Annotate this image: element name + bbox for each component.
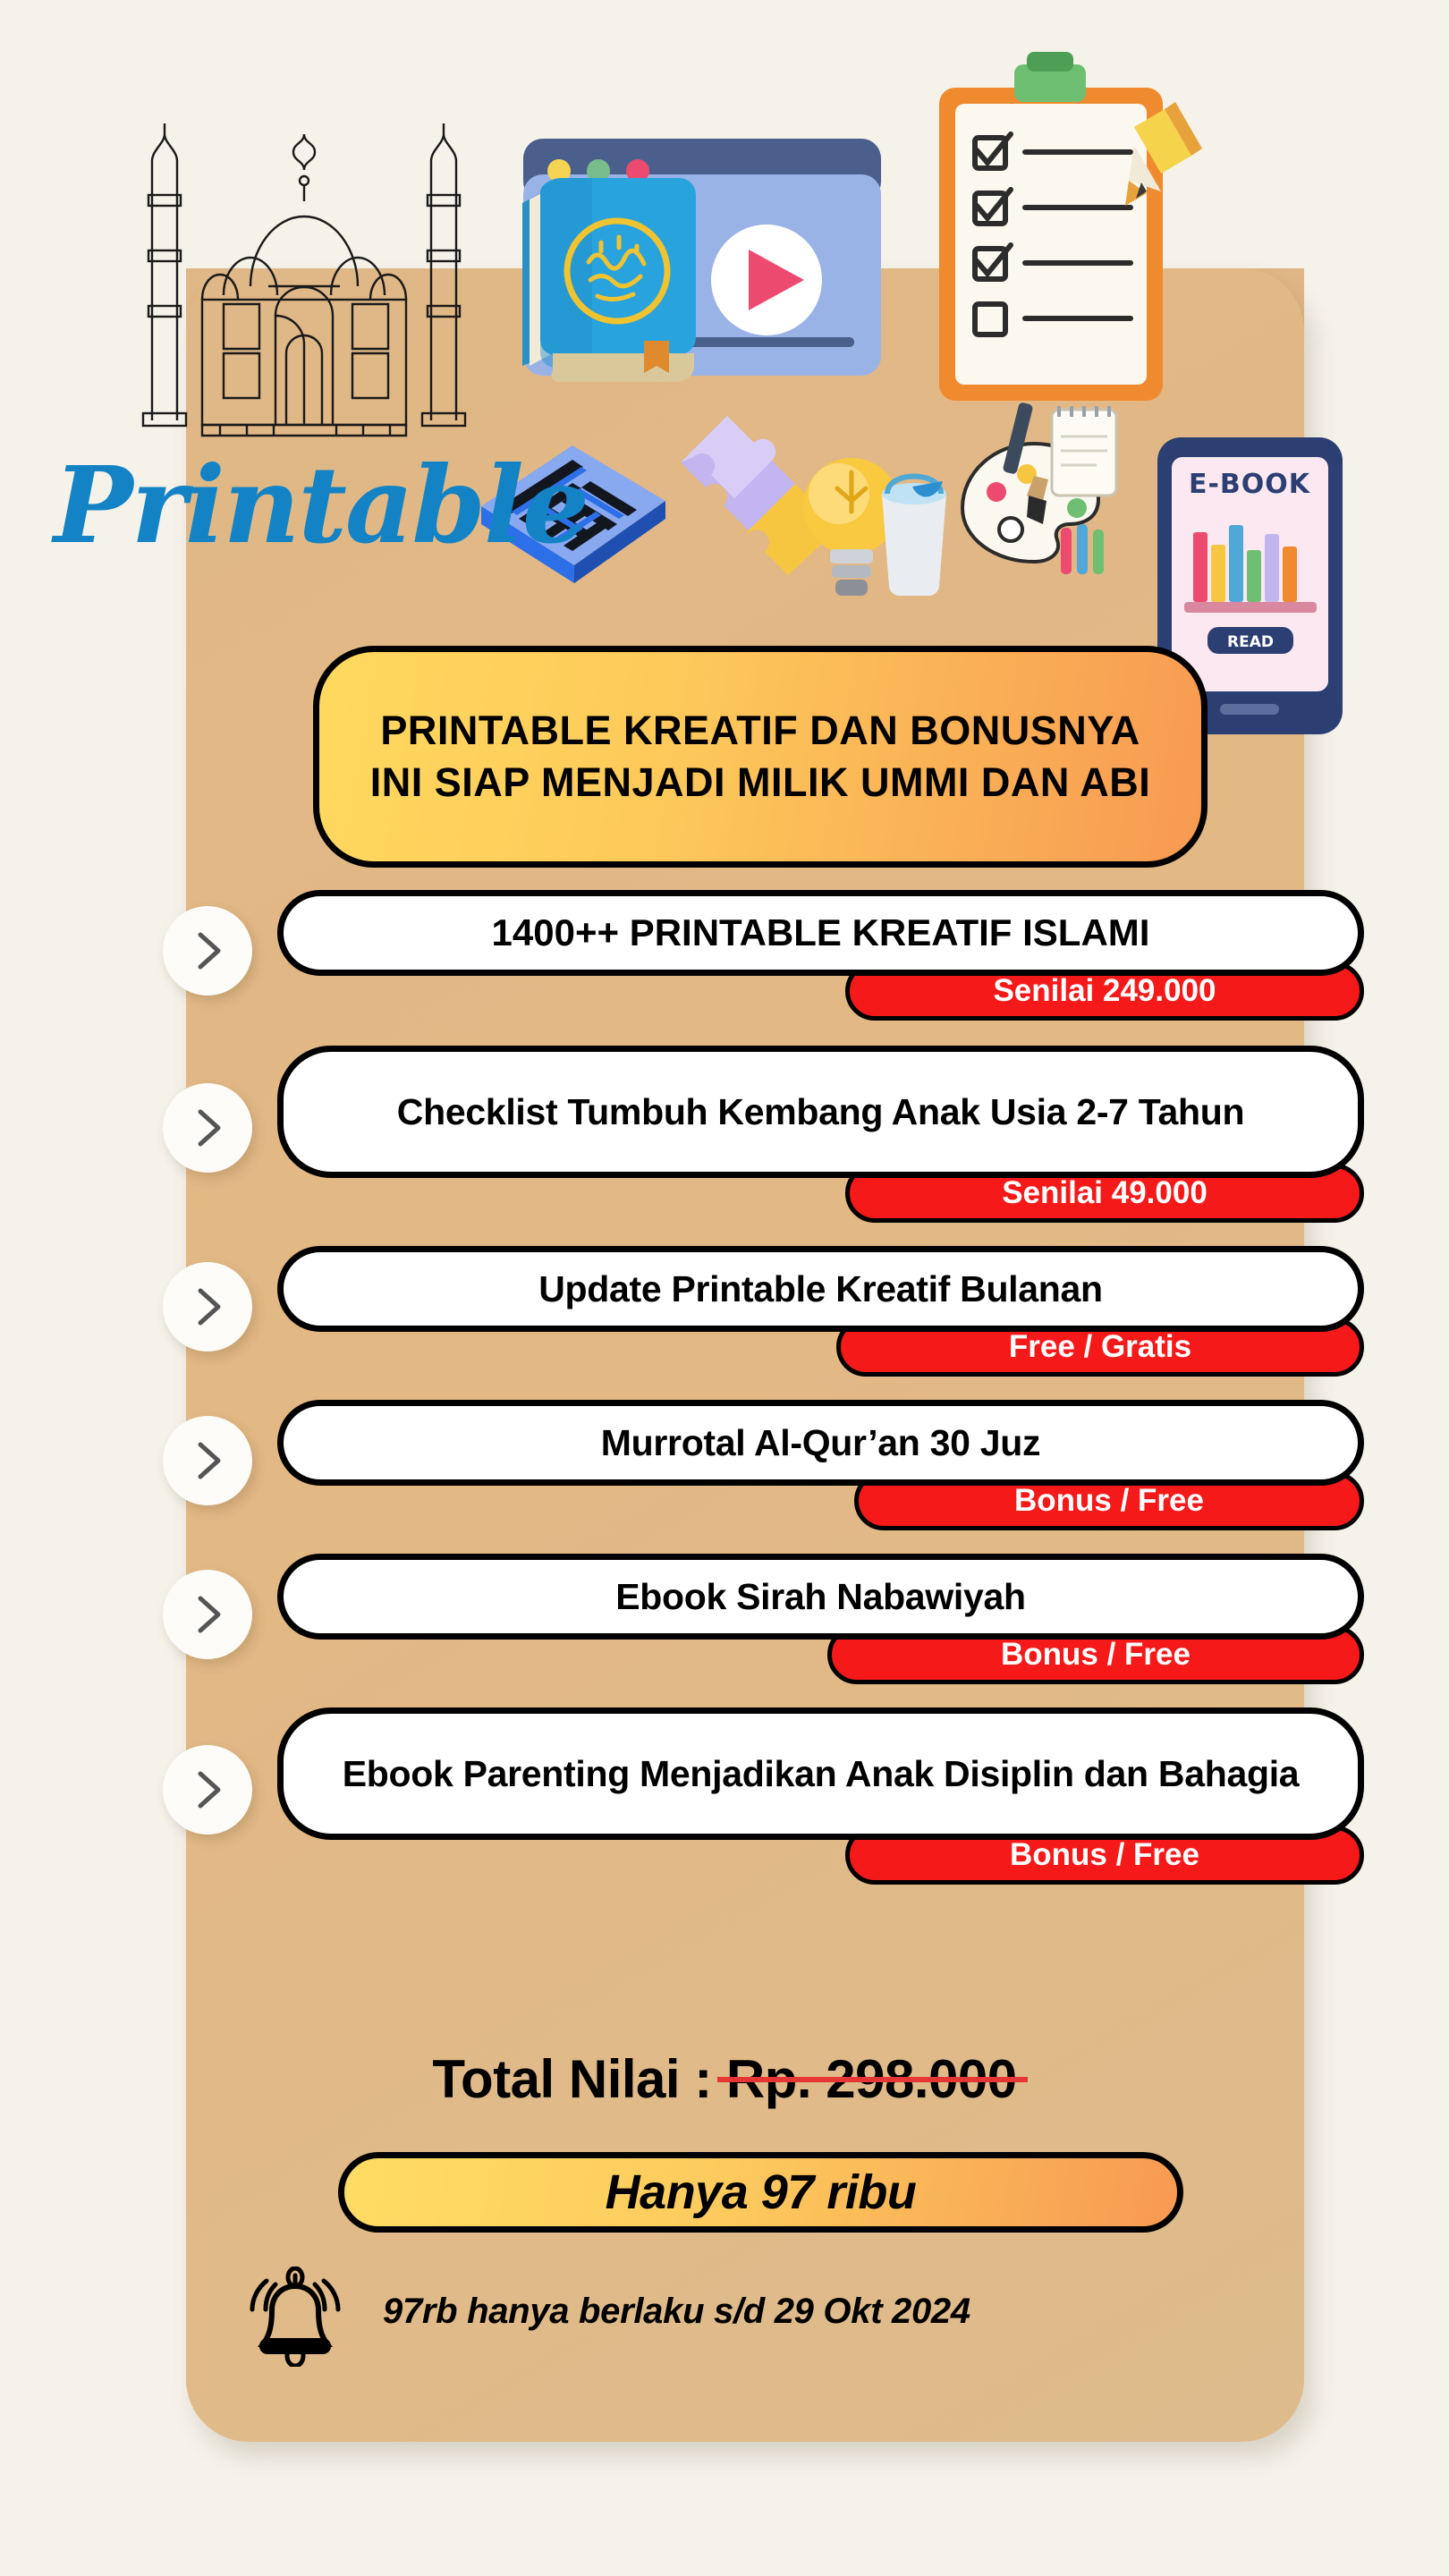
feature-pill: Ebook Sirah Nabawiyah (277, 1554, 1364, 1640)
checklist-clipboard (921, 45, 1207, 420)
feature-title: Murrotal Al-Qur’an 30 Juz (601, 1420, 1040, 1465)
mosque-line-art (116, 116, 492, 474)
paint-palette (877, 394, 1118, 608)
headline-banner: PRINTABLE KREATIF DAN BONUSNYA INI SIAP … (313, 646, 1207, 868)
list-item[interactable]: Checklist Tumbuh Kembang Anak Usia 2-7 T… (0, 1046, 1449, 1226)
spiral-notepad (1052, 406, 1116, 496)
chevron-right-icon[interactable] (163, 906, 252, 996)
feature-pill: 1400++ PRINTABLE KREATIF ISLAMI (277, 890, 1364, 976)
list-item[interactable]: 1400++ PRINTABLE KREATIF ISLAMI Senilai … (0, 890, 1449, 1024)
feature-title: Ebook Parenting Menjadikan Anak Disiplin… (343, 1751, 1300, 1796)
deadline-block: 97rb hanya berlaku s/d 29 Okt 2024 (241, 2263, 1225, 2370)
feature-title: Ebook Sirah Nabawiyah (615, 1574, 1026, 1619)
list-item[interactable]: Update Printable Kreatif Bulanan Free / … (0, 1246, 1449, 1380)
svg-text:E-BOOK: E-BOOK (1189, 469, 1311, 500)
quran-book (519, 165, 716, 389)
feature-pill: Ebook Parenting Menjadikan Anak Disiplin… (277, 1707, 1364, 1840)
chevron-right-icon[interactable] (163, 1083, 252, 1173)
list-item[interactable]: Ebook Sirah Nabawiyah Bonus / Free (0, 1554, 1449, 1688)
chevron-right-icon[interactable] (163, 1416, 252, 1505)
paint-bucket (882, 477, 946, 597)
list-item[interactable]: Murrotal Al-Qur’an 30 Juz Bonus / Free (0, 1400, 1449, 1534)
feature-title: 1400++ PRINTABLE KREATIF ISLAMI (492, 910, 1150, 955)
chevron-right-icon[interactable] (163, 1570, 252, 1659)
price-text: Hanya 97 ribu (606, 2165, 917, 2220)
poster-canvas: E-BOOK READ Printable PRINTABLE KREATIF … (0, 0, 1449, 2576)
headline-text: PRINTABLE KREATIF DAN BONUSNYA INI SIAP … (355, 705, 1165, 808)
bell-icon (241, 2267, 349, 2367)
feature-pill: Update Printable Kreatif Bulanan (277, 1246, 1364, 1332)
feature-title: Checklist Tumbuh Kembang Anak Usia 2-7 T… (397, 1089, 1244, 1134)
crayons (1061, 524, 1104, 574)
deadline-text: 97rb hanya berlaku s/d 29 Okt 2024 (383, 2292, 970, 2332)
feature-title: Update Printable Kreatif Bulanan (538, 1267, 1103, 1311)
total-struck-value: Rp. 298.000 (726, 2048, 1017, 2110)
chevron-right-icon[interactable] (163, 1745, 252, 1835)
chevron-right-icon[interactable] (163, 1262, 252, 1352)
list-item[interactable]: Ebook Parenting Menjadikan Anak Disiplin… (0, 1707, 1449, 1888)
total-label: Total Nilai : (432, 2049, 726, 2109)
price-pill: Hanya 97 ribu (338, 2152, 1183, 2233)
feature-list: 1400++ PRINTABLE KREATIF ISLAMI Senilai … (0, 890, 1449, 1888)
svg-text:READ: READ (1227, 633, 1274, 651)
feature-pill: Checklist Tumbuh Kembang Anak Usia 2-7 T… (277, 1046, 1364, 1178)
total-line: Total Nilai : Rp. 298.000 (0, 2048, 1449, 2110)
printable-script-word: Printable (54, 443, 474, 568)
feature-pill: Murrotal Al-Qur’an 30 Juz (277, 1400, 1364, 1486)
